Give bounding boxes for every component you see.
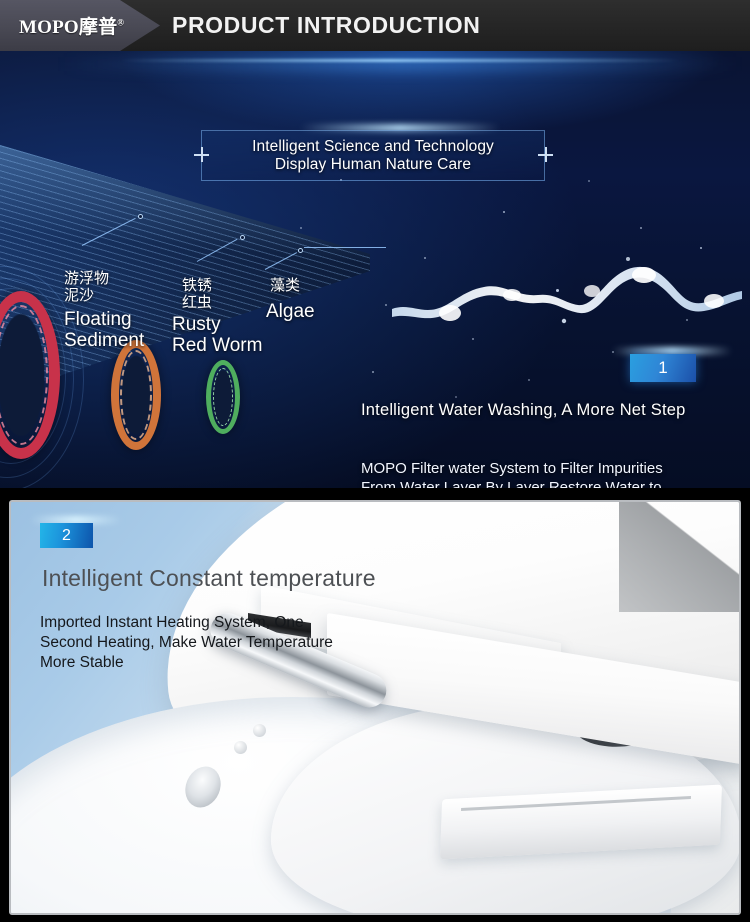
- leader-dot-3: [298, 248, 303, 253]
- plus-marker-right-icon: [538, 147, 553, 162]
- panel-corner-shade: [619, 502, 739, 612]
- leader-dot-2: [240, 235, 245, 240]
- leader-line-3-ext: [304, 247, 386, 248]
- filter-label-en-2: Rusty Red Worm: [172, 314, 262, 356]
- leader-dot-1: [138, 214, 143, 219]
- filter-label-cn-1: 游浮物 泥沙: [64, 270, 109, 304]
- section-2-body: Imported Instant Heating System, One Sec…: [40, 613, 410, 673]
- registered-trademark-icon: ®: [117, 18, 124, 28]
- nozzle-port-1: [234, 741, 247, 754]
- product-photo-panel: [9, 500, 741, 915]
- product-introduction-page: MOPO摩普® PRODUCT INTRODUCTION Int: [0, 0, 750, 922]
- section-1-badge: 1: [630, 354, 696, 382]
- brand-logo-text: MOPO摩普®: [19, 12, 124, 39]
- section-2-badge: 2: [40, 523, 93, 548]
- filter-ring-rusty-red-worm-inner: [120, 350, 152, 440]
- filter-label-cn-3: 藻类: [270, 277, 300, 294]
- filter-label-en-3: Algae: [266, 301, 315, 322]
- top-light-beam: [120, 59, 680, 62]
- filter-label-en-1: Floating Sediment: [64, 309, 144, 351]
- filter-label-cn-2: 铁锈 红虫: [182, 277, 212, 311]
- section-1-title: Intelligent Water Washing, A More Net St…: [361, 401, 686, 420]
- filter-ring-algae-inner: [213, 368, 233, 426]
- page-title: PRODUCT INTRODUCTION: [172, 0, 480, 51]
- page-header: MOPO摩普® PRODUCT INTRODUCTION: [0, 0, 750, 51]
- section-2-title: Intelligent Constant temperature: [42, 565, 376, 592]
- brand-logo-label: MOPO摩普: [19, 17, 117, 38]
- nozzle-port-2: [253, 724, 266, 737]
- hero-section: Intelligent Science and Technology Displ…: [0, 51, 750, 488]
- water-splash-graphic: [392, 247, 744, 355]
- section-1-body: MOPO Filter water System to Filter Impur…: [361, 460, 743, 488]
- brand-logo-chevron: MOPO摩普®: [0, 0, 160, 51]
- filtration-cone-diagram: [0, 136, 390, 406]
